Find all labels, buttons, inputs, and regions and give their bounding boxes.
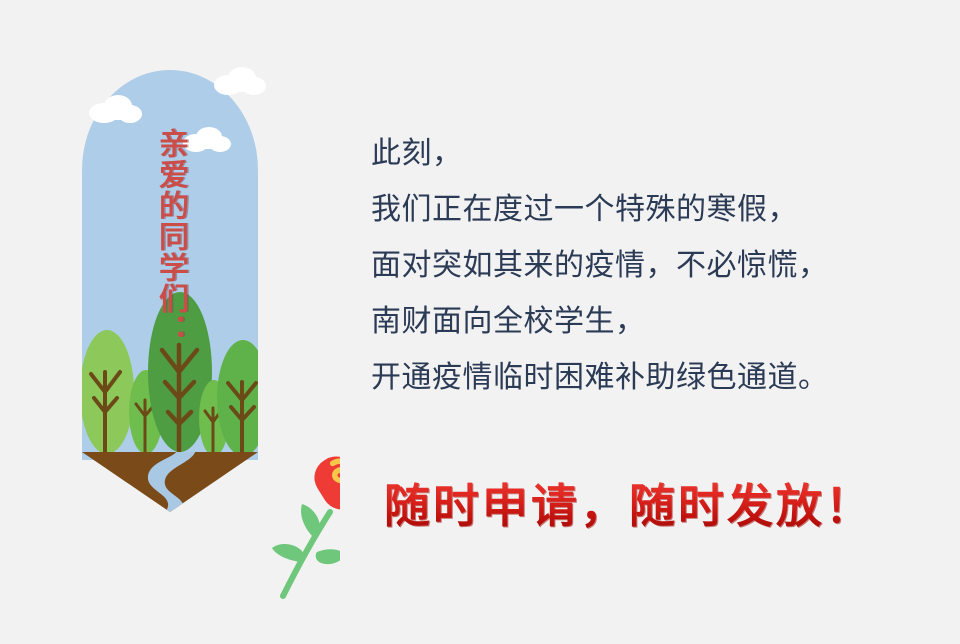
greeting-vertical-text: 亲爱的同学们：: [144, 128, 186, 345]
poster-canvas: 亲爱的同学们： 此刻， 我们正在度过一个特殊的寒假， 面对突如其来的疫情，不必惊…: [0, 0, 960, 644]
body-line-1: 此刻，: [371, 126, 931, 182]
tree-right: [217, 340, 269, 456]
body-line-2: 我们正在度过一个特殊的寒假，: [371, 182, 931, 238]
body-line-5: 开通疫情临时困难补助绿色通道。: [371, 350, 931, 406]
body-paragraph: 此刻， 我们正在度过一个特殊的寒假， 面对突如其来的疫情，不必惊慌， 南财面向全…: [371, 126, 931, 406]
cloud-icon-top-right: [214, 67, 266, 95]
body-line-3: 面对突如其来的疫情，不必惊慌，: [371, 238, 931, 294]
headline-slogan: 随时申请，随时发放！: [384, 470, 874, 536]
body-line-4: 南财面向全校学生，: [371, 294, 931, 350]
rose-illustration: [272, 449, 340, 596]
tree-left-tall: [80, 330, 134, 455]
